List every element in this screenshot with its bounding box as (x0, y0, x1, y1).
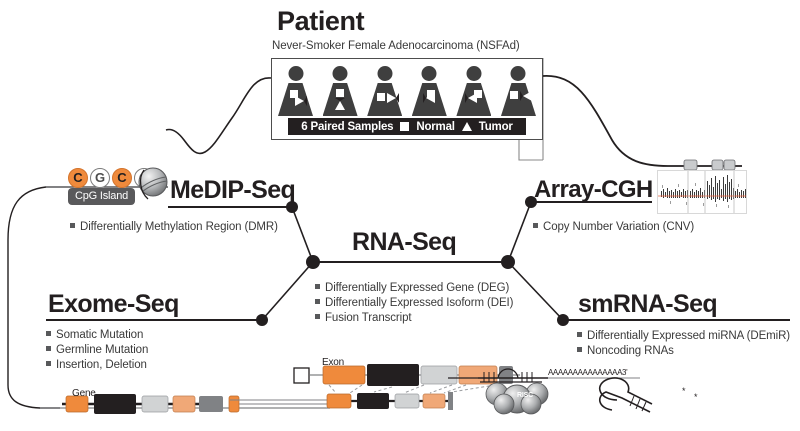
legend-normal-label: Normal (416, 121, 454, 133)
figure-head-icon (511, 66, 526, 81)
heading-smrna-seq: smRNA-Seq (578, 290, 717, 319)
bullet-item: Copy Number Variation (CNV) (533, 220, 694, 235)
page-title: Patient (277, 6, 364, 37)
figure-head-icon (466, 66, 481, 81)
exon-track-upper (323, 364, 513, 386)
transcript-start-box (294, 368, 309, 383)
figure-head-icon (377, 66, 392, 81)
bullets-rnaseq: Differentially Expressed Gene (DEG) Diff… (315, 281, 513, 326)
legend-tumor-label: Tumor (479, 121, 513, 133)
cgh-trace (658, 171, 747, 214)
figure-head-icon (288, 66, 303, 81)
tumor-triangle-marker (335, 98, 345, 110)
bullet-item: Insertion, Deletion (46, 358, 148, 373)
splice-connectors (329, 385, 495, 393)
tumor-triangle-marker (423, 93, 435, 103)
heading-medip-seq: MeDIP-Seq (170, 176, 295, 205)
patient-figure (455, 66, 492, 116)
figure-head-icon (422, 66, 437, 81)
tumor-triangle-icon (462, 122, 472, 131)
bullet-item: Fusion Transcript (315, 311, 513, 326)
tumor-triangle-marker (295, 96, 307, 106)
edge-rnaseq-exome (262, 262, 313, 320)
patient-figure (500, 66, 537, 116)
sample-legend-bar: 6 Paired Samples Normal Tumor (288, 118, 526, 135)
bullets-exome: Somatic Mutation Germline Mutation Inser… (46, 328, 148, 373)
patient-figure (277, 66, 314, 116)
hairpin-mirna-icon: * * (600, 378, 698, 412)
bullets-medip: Differentially Methylation Region (DMR) (70, 220, 278, 235)
bullet-item: Somatic Mutation (46, 328, 148, 343)
bullet-item: Differentially Expressed Isoform (DEI) (315, 296, 513, 311)
patient-figure-group (277, 64, 537, 116)
tumor-triangle-marker (465, 93, 477, 103)
polya-tail-label: AAAAAAAAAAAAAAA3' (548, 368, 627, 377)
curve-patient-to-medip (166, 78, 271, 154)
curve-patient-to-acgh (543, 76, 742, 166)
cpg-base-c-icon: C (112, 168, 132, 188)
bullet-item: Differentially Expressed miRNA (DEmiR) (577, 329, 790, 344)
legend-count-label: 6 Paired Samples (301, 121, 393, 133)
edge-rnaseq-smrna (508, 262, 563, 320)
heading-rna-seq: RNA-Seq (352, 228, 456, 257)
node-exome (256, 314, 268, 326)
edge-acgh-rnaseq (508, 202, 531, 262)
diagram-canvas: Patient Never-Smoker Female Adenocarcino… (0, 0, 800, 431)
node-rnaseq-left (306, 255, 320, 269)
node-smrna (557, 314, 569, 326)
normal-square-marker (377, 93, 385, 101)
mrna-bulge (498, 369, 518, 378)
bullets-acgh: Copy Number Variation (CNV) (533, 220, 694, 235)
exon-label: Exon (322, 357, 344, 368)
heading-exome-seq: Exome-Seq (48, 290, 179, 319)
tumor-triangle-marker (520, 91, 532, 101)
cpg-island-label: CpG Island (68, 188, 135, 205)
bullet-item: Germline Mutation (46, 343, 148, 358)
box-shadow-edge (519, 140, 543, 160)
risc-label: RISC (508, 392, 542, 399)
tumor-triangle-marker (387, 93, 399, 103)
cpg-base-c-icon: C (68, 168, 88, 188)
gene-label: Gene (72, 388, 96, 399)
patient-figure (366, 66, 403, 116)
chromosome-segments (684, 160, 735, 170)
bullet-item: Differentially Expressed Gene (DEG) (315, 281, 513, 296)
bullets-smrna: Differentially Expressed miRNA (DEmiR) N… (577, 329, 790, 359)
array-cgh-plot (657, 170, 747, 214)
normal-square-icon (400, 122, 409, 131)
nucleosome-icon (136, 166, 170, 200)
patient-subtitle: Never-Smoker Female Adenocarcinoma (NSFA… (272, 40, 520, 52)
normal-square-marker (510, 91, 518, 99)
edge-medip-rnaseq (292, 207, 313, 262)
bullet-item: Noncoding RNAs (577, 344, 790, 359)
normal-square-marker (336, 89, 344, 97)
base-pair-ticks (484, 372, 532, 382)
svg-text:*: * (682, 386, 686, 396)
heading-array-cgh: Array-CGH (534, 176, 653, 204)
svg-text:*: * (694, 392, 698, 402)
node-rnaseq-right (501, 255, 515, 269)
figure-head-icon (333, 66, 348, 81)
bullet-item: Differentially Methylation Region (DMR) (70, 220, 278, 235)
patient-figure (322, 66, 359, 116)
cpg-base-g-icon: G (90, 168, 110, 188)
patient-figure (411, 66, 448, 116)
exon-track-lower (327, 392, 453, 410)
